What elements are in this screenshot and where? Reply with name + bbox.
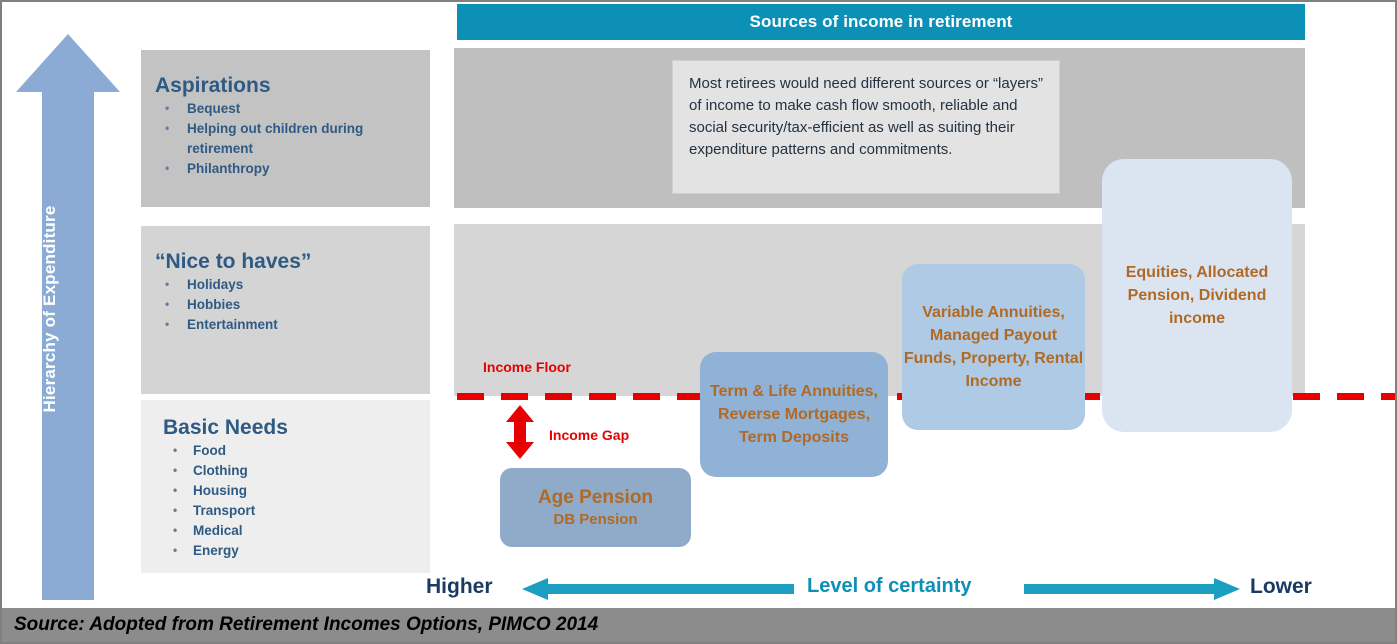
list-item: Medical xyxy=(141,521,430,541)
source-box-term-life-annuities[interactable]: Term & Life Annuities, Reverse Mortgages… xyxy=(700,352,888,477)
source-box-age-pension[interactable]: Age Pension DB Pension xyxy=(500,468,691,547)
list-item: Food xyxy=(141,441,430,461)
income-floor-label: Income Floor xyxy=(483,359,571,375)
axis-label-lower: Lower xyxy=(1250,575,1312,599)
tier-title-basic-needs: Basic Needs xyxy=(163,416,430,439)
list-item: Bequest xyxy=(141,99,430,119)
tier-panel-aspirations: Aspirations Bequest Helping out children… xyxy=(141,50,430,207)
tier-title-aspirations: Aspirations xyxy=(155,74,430,97)
income-gap-label: Income Gap xyxy=(549,427,629,443)
double-headed-vertical-arrow-icon xyxy=(505,405,535,459)
list-item: Helping out children during retirement xyxy=(141,119,430,159)
header-title: Sources of income in retirement xyxy=(750,12,1013,32)
hierarchy-axis-label: Hierarchy of Expenditure xyxy=(40,89,60,529)
axis-label-level-of-certainty: Level of certainty xyxy=(807,575,972,598)
source-box-age-pension-title: Age Pension xyxy=(538,486,653,510)
tier-title-nice-to-haves: “Nice to haves” xyxy=(155,250,430,273)
footer-bar: Source: Adopted from Retirement Incomes … xyxy=(2,608,1395,642)
tier-panel-nice-to-haves: “Nice to haves” Holidays Hobbies Enterta… xyxy=(141,226,430,394)
up-arrow-icon xyxy=(16,34,120,600)
level-of-certainty-axis: Higher Level of certainty Lower xyxy=(422,572,1322,606)
list-item: Energy xyxy=(141,541,430,561)
retirement-income-diagram: Sources of income in retirement Hierarch… xyxy=(0,0,1397,644)
income-gap-arrow xyxy=(505,405,535,459)
tier-list-aspirations: Bequest Helping out children during reti… xyxy=(141,99,430,179)
list-item: Transport xyxy=(141,501,430,521)
list-item: Hobbies xyxy=(141,295,430,315)
tier-list-basic-needs: Food Clothing Housing Transport Medical … xyxy=(141,441,430,561)
right-arrow-icon xyxy=(1024,578,1240,605)
tier-panel-basic-needs: Basic Needs Food Clothing Housing Transp… xyxy=(141,400,430,573)
source-citation: Source: Adopted from Retirement Incomes … xyxy=(14,614,598,636)
axis-label-higher: Higher xyxy=(426,575,493,599)
header-banner: Sources of income in retirement xyxy=(457,4,1305,40)
left-arrow-icon xyxy=(522,578,794,605)
list-item: Housing xyxy=(141,481,430,501)
hierarchy-of-expenditure-axis: Hierarchy of Expenditure xyxy=(16,34,120,600)
source-box-equities[interactable]: Equities, Allocated Pension, Dividend in… xyxy=(1102,159,1292,432)
list-item: Entertainment xyxy=(141,315,430,335)
callout-note: Most retirees would need different sourc… xyxy=(672,60,1060,194)
list-item: Philanthropy xyxy=(141,159,430,179)
tier-list-nice-to-haves: Holidays Hobbies Entertainment xyxy=(141,275,430,335)
list-item: Holidays xyxy=(141,275,430,295)
source-box-age-pension-subtitle: DB Pension xyxy=(553,510,637,530)
list-item: Clothing xyxy=(141,461,430,481)
source-box-variable-annuities[interactable]: Variable Annuities, Managed Payout Funds… xyxy=(902,264,1085,430)
